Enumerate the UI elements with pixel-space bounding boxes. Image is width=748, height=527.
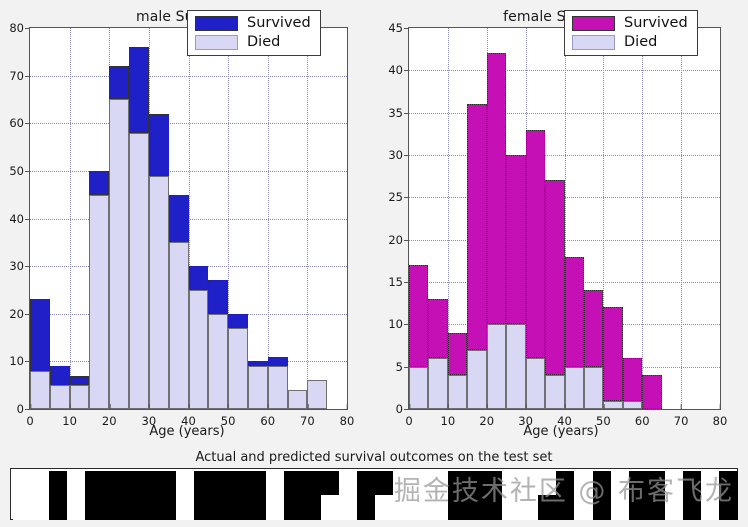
histogram-bar-died — [526, 358, 545, 409]
x-tick-mark — [109, 404, 110, 409]
histogram-bar-survived — [409, 265, 428, 367]
y-tick-mark — [404, 28, 409, 29]
legend-swatch-died-female — [572, 35, 615, 50]
legend-row-died-female: Died — [572, 35, 688, 50]
y-tick-mark — [404, 113, 409, 114]
legend-label-survived-male: Survived — [247, 16, 311, 31]
strip-cell-actual — [284, 471, 302, 496]
histogram-bar-survived — [526, 130, 545, 359]
strip-cell-predicted — [484, 495, 502, 520]
y-tick-mark — [404, 324, 409, 325]
strip-cell-actual — [121, 471, 139, 496]
histogram-bar-survived — [268, 357, 288, 367]
legend-female: Survived Died — [564, 10, 698, 56]
y-tick-label: 50 — [9, 164, 30, 178]
strip-cell-predicted — [611, 495, 629, 520]
gridline-vertical — [70, 28, 71, 409]
strip-cell-predicted — [375, 495, 393, 520]
x-tick-mark — [228, 404, 229, 409]
strip-cell-predicted — [683, 495, 701, 520]
histogram-bar-survived — [149, 114, 169, 176]
histogram-bar-died — [228, 328, 248, 409]
histogram-bar-died — [169, 242, 189, 409]
strip-cell-predicted — [520, 495, 538, 520]
strip-cell-predicted — [85, 495, 103, 520]
histogram-bar-survived — [70, 376, 90, 386]
panel-female: female Survived 051015202530354045010203… — [374, 0, 748, 450]
y-tick-mark — [25, 361, 30, 362]
x-tick-mark — [347, 404, 348, 409]
histogram-bar-died — [129, 133, 149, 409]
strip-cell-actual — [683, 471, 701, 496]
x-tick-mark — [448, 404, 449, 409]
y-tick-mark — [404, 240, 409, 241]
strip-cell-predicted — [49, 495, 67, 520]
x-tick-mark — [188, 404, 189, 409]
y-tick-mark — [25, 266, 30, 267]
histogram-bar-died — [208, 314, 228, 409]
histogram-bar-died — [584, 367, 603, 409]
y-tick-mark — [404, 155, 409, 156]
histogram-bar-survived — [428, 299, 447, 358]
strip-cell-predicted — [303, 495, 321, 520]
y-tick-label: 25 — [388, 190, 409, 204]
strip-cell-predicted — [466, 495, 484, 520]
strip-cell-predicted — [230, 495, 248, 520]
strip-cell-actual — [357, 471, 375, 496]
y-tick-mark — [404, 282, 409, 283]
strip-cell-actual — [85, 471, 103, 496]
legend-swatch-survived-male — [195, 16, 238, 31]
histogram-bar-died — [506, 324, 525, 409]
strip-cell-actual — [139, 471, 157, 496]
strip-title: Actual and predicted survival outcomes o… — [0, 450, 748, 465]
gridline-vertical — [268, 28, 269, 409]
histogram-bar-died — [70, 385, 90, 409]
y-tick-label: 35 — [388, 106, 409, 120]
y-tick-label: 10 — [9, 354, 30, 368]
strip-cell-actual — [303, 471, 321, 496]
strip-cell-predicted — [194, 495, 212, 520]
x-tick-mark — [564, 404, 565, 409]
strip-cell-actual — [31, 471, 49, 496]
y-tick-mark — [404, 197, 409, 198]
strip-panel: Actual and predicted survival outcomes o… — [0, 450, 748, 527]
plot-area-male: 0102030405060708001020304050607080 — [29, 27, 348, 410]
strip-cell-actual — [520, 471, 538, 496]
strip-cell-predicted — [429, 495, 447, 520]
strip-cell-actual — [665, 471, 683, 496]
histogram-bar-survived — [448, 333, 467, 375]
histogram-bar-survived — [545, 180, 564, 375]
strip-cell-predicted — [31, 495, 49, 520]
legend-row-died-male: Died — [195, 35, 311, 50]
gridline-vertical — [681, 28, 682, 409]
x-tick-mark — [487, 404, 488, 409]
y-tick-label: 40 — [9, 212, 30, 226]
strip-cell-actual — [574, 471, 592, 496]
histogram-bar-survived — [169, 195, 189, 243]
strip-cell-predicted — [701, 495, 719, 520]
histogram-bar-died — [623, 401, 642, 409]
histogram-bar-died — [189, 290, 209, 409]
strip-cell-actual — [484, 471, 502, 496]
histogram-bar-died — [307, 380, 327, 409]
strip-cell-predicted — [719, 495, 737, 520]
y-tick-label: 10 — [388, 317, 409, 331]
histogram-bar-died — [109, 99, 129, 409]
gridline-vertical — [307, 28, 308, 409]
x-tick-mark — [149, 404, 150, 409]
legend-label-died-male: Died — [247, 35, 280, 50]
histogram-bar-survived — [487, 53, 506, 324]
x-axis-label-male: Age (years) — [0, 424, 374, 439]
strip-cell-actual — [339, 471, 357, 496]
strip-cell-predicted — [212, 495, 230, 520]
strip-cell-predicted — [629, 495, 647, 520]
histogram-bar-died — [545, 375, 564, 409]
legend-label-died-female: Died — [624, 35, 657, 50]
strip-cell-actual — [411, 471, 429, 496]
strip-cell-actual — [701, 471, 719, 496]
legend-swatch-survived-female — [572, 16, 615, 31]
strip-cell-predicted — [556, 495, 574, 520]
histogram-bar-died — [487, 324, 506, 409]
strip-cell-actual — [67, 471, 85, 496]
y-tick-label: 30 — [388, 148, 409, 162]
y-tick-mark — [404, 367, 409, 368]
strip-cell-predicted — [411, 495, 429, 520]
strip-cell-predicted — [176, 495, 194, 520]
histogram-bar-died — [89, 195, 109, 409]
histogram-bar-survived — [228, 314, 248, 328]
histogram-bar-died — [268, 366, 288, 409]
histogram-bar-died — [448, 375, 467, 409]
strip-cell-actual — [248, 471, 266, 496]
strip-cell-actual — [538, 471, 556, 496]
y-tick-mark — [25, 123, 30, 124]
plot-inner-female — [409, 28, 720, 409]
legend-swatch-died-male — [195, 35, 238, 50]
histogram-bar-survived — [50, 366, 70, 385]
strip-cell-actual — [429, 471, 447, 496]
y-tick-label: 15 — [388, 275, 409, 289]
y-tick-label: 40 — [388, 63, 409, 77]
strip-cell-actual — [266, 471, 284, 496]
y-tick-mark — [25, 219, 30, 220]
strip-cell-predicted — [339, 495, 357, 520]
y-tick-label: 5 — [396, 360, 409, 374]
histogram-bar-survived — [248, 361, 268, 366]
histogram-bar-died — [409, 367, 428, 409]
strip-cell-actual — [194, 471, 212, 496]
plot-inner-male — [30, 28, 347, 409]
y-tick-label: 30 — [9, 259, 30, 273]
histogram-bar-survived — [642, 375, 661, 409]
x-axis-label-female: Age (years) — [374, 424, 748, 439]
figure-root: male Survived 01020304050607080010203040… — [0, 0, 748, 527]
strip-cell-actual — [103, 471, 121, 496]
strip-cell-predicted — [357, 495, 375, 520]
strip-cell-actual — [393, 471, 411, 496]
histogram-bar-survived — [467, 104, 486, 350]
x-tick-mark — [526, 404, 527, 409]
strip-cell-predicted — [574, 495, 592, 520]
x-tick-mark — [307, 404, 308, 409]
strip-cell-actual — [502, 471, 520, 496]
strip-cell-predicted — [665, 495, 683, 520]
histogram-bar-died — [565, 367, 584, 409]
y-tick-mark — [404, 70, 409, 71]
histogram-bar-survived — [623, 358, 642, 400]
strip-cell-predicted — [248, 495, 266, 520]
strip-cell-actual — [629, 471, 647, 496]
x-tick-mark — [642, 404, 643, 409]
x-tick-mark — [70, 404, 71, 409]
histogram-bar-died — [30, 371, 50, 409]
strip-cell-actual — [321, 471, 339, 496]
strip-cell-predicted — [647, 495, 665, 520]
strip-cell-actual — [647, 471, 665, 496]
histogram-bar-died — [467, 350, 486, 409]
strip-cell-predicted — [593, 495, 611, 520]
strip-cell-predicted — [502, 495, 520, 520]
panel-male: male Survived 01020304050607080010203040… — [0, 0, 374, 450]
strip-cell-predicted — [103, 495, 121, 520]
strip-cell-predicted — [321, 495, 339, 520]
histogram-bar-died — [50, 385, 70, 409]
strip-cell-predicted — [266, 495, 284, 520]
x-tick-mark — [268, 404, 269, 409]
y-tick-mark — [25, 171, 30, 172]
x-tick-mark — [30, 404, 31, 409]
legend-label-survived-female: Survived — [624, 16, 688, 31]
strip-cell-predicted — [393, 495, 411, 520]
histogram-bar-survived — [208, 280, 228, 313]
strip-cell-actual — [556, 471, 574, 496]
strip-cell-predicted — [121, 495, 139, 520]
plot-area-female: 05101520253035404501020304050607080 — [408, 27, 721, 410]
histogram-bar-survived — [603, 307, 622, 400]
strip-frame — [10, 468, 738, 520]
legend-row-survived-male: Survived — [195, 16, 311, 31]
histogram-bar-survived — [189, 266, 209, 290]
y-tick-label: 70 — [9, 69, 30, 83]
strip-cell-actual — [176, 471, 194, 496]
histogram-bar-died — [288, 390, 308, 409]
histogram-bar-survived — [506, 155, 525, 324]
y-tick-label: 60 — [9, 116, 30, 130]
histogram-bar-survived — [129, 47, 149, 133]
y-tick-mark — [25, 76, 30, 77]
strip-cell-actual — [719, 471, 737, 496]
histogram-bar-survived — [30, 299, 50, 370]
strip-cell-predicted — [448, 495, 466, 520]
strip-cell-predicted — [13, 495, 31, 520]
x-tick-mark — [720, 404, 721, 409]
strip-cell-predicted — [158, 495, 176, 520]
strip-cell-actual — [158, 471, 176, 496]
y-tick-label: 20 — [388, 233, 409, 247]
y-tick-mark — [25, 28, 30, 29]
histogram-bar-survived — [109, 66, 129, 99]
legend-row-survived-female: Survived — [572, 16, 688, 31]
histogram-bar-survived — [89, 171, 109, 195]
y-tick-label: 20 — [9, 307, 30, 321]
gridline-vertical — [642, 28, 643, 409]
strip-cell-actual — [212, 471, 230, 496]
strip-cell-predicted — [538, 495, 556, 520]
histogram-bar-survived — [565, 257, 584, 367]
histogram-bar-died — [248, 366, 268, 409]
strip-grid — [13, 471, 738, 520]
legend-male: Survived Died — [187, 10, 321, 56]
strip-cell-actual — [448, 471, 466, 496]
strip-cell-actual — [13, 471, 31, 496]
histogram-bar-died — [149, 176, 169, 409]
strip-cell-predicted — [67, 495, 85, 520]
y-tick-label: 80 — [9, 21, 30, 35]
strip-cell-actual — [375, 471, 393, 496]
x-tick-mark — [409, 404, 410, 409]
histogram-bar-survived — [584, 290, 603, 366]
strip-cell-actual — [466, 471, 484, 496]
strip-cell-actual — [49, 471, 67, 496]
x-tick-mark — [681, 404, 682, 409]
strip-cell-predicted — [284, 495, 302, 520]
y-tick-mark — [25, 314, 30, 315]
histogram-bar-died — [603, 401, 622, 409]
strip-cell-predicted — [139, 495, 157, 520]
y-tick-label: 45 — [388, 21, 409, 35]
histogram-bar-died — [428, 358, 447, 409]
x-tick-mark — [603, 404, 604, 409]
strip-cell-actual — [611, 471, 629, 496]
strip-cell-actual — [230, 471, 248, 496]
strip-cell-actual — [593, 471, 611, 496]
